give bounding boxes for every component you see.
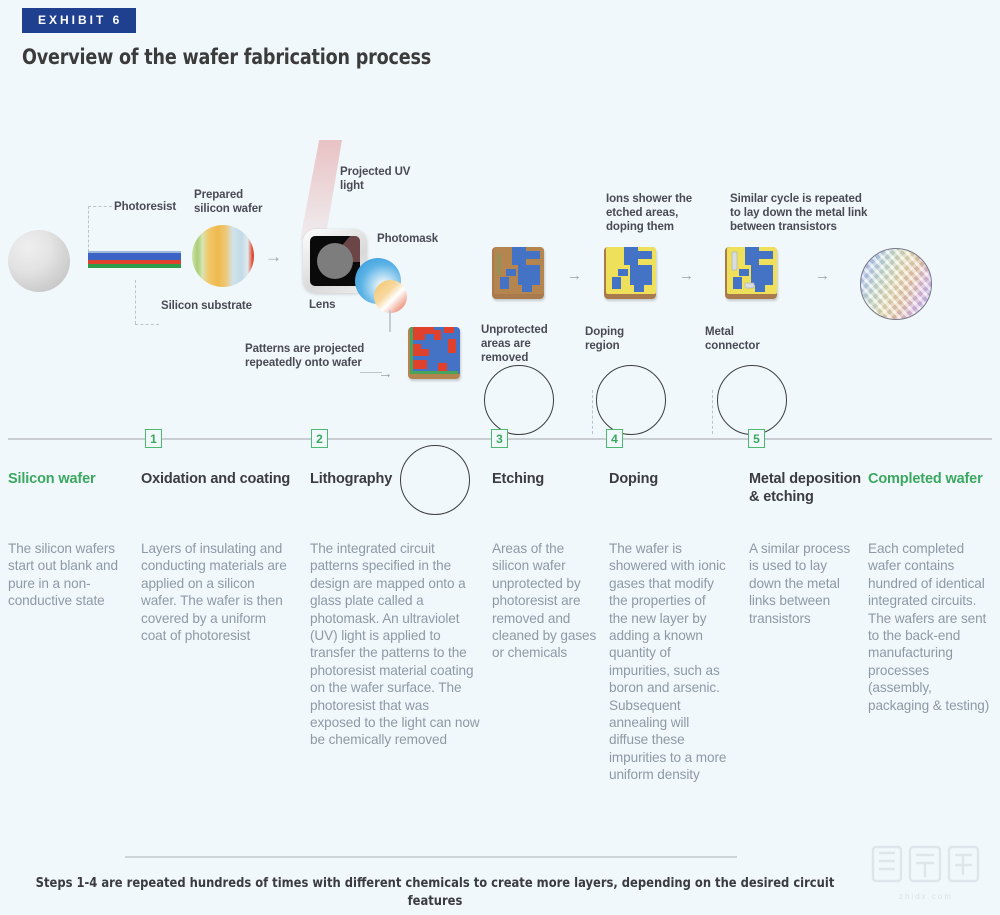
- metal-chip-icon: [725, 247, 777, 299]
- label-projected-uv-light: Projected UV light: [340, 165, 410, 193]
- label-photomask: Photomask: [377, 232, 438, 246]
- exposed-chip-icon: [408, 327, 460, 379]
- step-column-oxidation: Oxidation and coating Layers of insulati…: [141, 470, 296, 488]
- step-column-etching: Etching Areas of the silicon wafer unpro…: [492, 470, 602, 488]
- photoresist-leader-line: [88, 206, 89, 252]
- step-body: The silicon wafers start out blank and p…: [8, 540, 123, 610]
- arrow-icon-exposed: →: [378, 366, 393, 381]
- photoresist-leader-line-h: [88, 206, 112, 207]
- completed-wafer-icon: [860, 248, 932, 320]
- step-marker-5: 5: [748, 429, 765, 448]
- step-body: The integrated circuit patterns specifie…: [310, 540, 480, 749]
- step-title: Etching: [492, 470, 602, 488]
- label-photoresist: Photoresist: [114, 200, 176, 214]
- substrate-leader-line-h: [135, 324, 159, 325]
- step-title: Lithography: [310, 470, 482, 488]
- metal-leader-line: [712, 390, 713, 434]
- step-marker-3: 3: [491, 429, 508, 448]
- doping-chip-outline: [596, 365, 666, 435]
- connector-exposed: [360, 372, 382, 373]
- watermark-logo: zhidx.com: [870, 839, 982, 901]
- step-marker-1: 1: [145, 429, 162, 448]
- watermark-caption: zhidx.com: [870, 892, 982, 901]
- label-doping-region: Doping region: [585, 325, 624, 353]
- step-column-lithography: Lithography The integrated circuit patte…: [310, 470, 482, 488]
- arrow-icon-1: →: [265, 248, 282, 265]
- page-title: Overview of the wafer fabrication proces…: [22, 45, 431, 69]
- step-title: Oxidation and coating: [141, 470, 296, 488]
- process-diagram: Photoresist Silicon substrate Prepared s…: [0, 120, 1000, 410]
- step-column-metal-deposition: Metal deposition & etching A similar pro…: [749, 470, 864, 506]
- step-column-doping: Doping The wafer is showered with ionic …: [609, 470, 731, 488]
- step-column-silicon-wafer: Silicon wafer The silicon wafers start o…: [8, 470, 128, 488]
- step-body: Each completed wafer contains hundred of…: [868, 540, 990, 714]
- watermark-glyph-icon: [870, 839, 982, 889]
- step-title: Metal deposition & etching: [749, 470, 864, 506]
- label-lens: Lens: [309, 298, 335, 312]
- step-title: Completed wafer: [868, 470, 993, 488]
- substrate-leader-line: [135, 280, 136, 324]
- etched-chip-outline: [484, 365, 554, 435]
- exhibit-page: EXHIBIT 6 Overview of the wafer fabricat…: [0, 0, 1000, 915]
- label-similar-cycle: Similar cycle is repeated to lay down th…: [730, 192, 867, 234]
- uv-beam-icon: [282, 140, 342, 240]
- blank-silicon-wafer-icon: [8, 230, 70, 292]
- metal-chip-outline: [717, 365, 787, 435]
- footer-note: Steps 1-4 are repeated hundreds of times…: [22, 874, 849, 910]
- doping-chip-icon: [604, 247, 656, 299]
- step-body: Layers of insulating and conducting mate…: [141, 540, 293, 644]
- step-marker-2: 2: [311, 429, 328, 448]
- step-body: A similar process is used to lay down th…: [749, 540, 861, 627]
- label-silicon-substrate: Silicon substrate: [161, 299, 252, 313]
- footer-divider: [125, 856, 737, 858]
- label-patterns-projected: Patterns are projected repeatedly onto w…: [245, 342, 364, 370]
- label-unprotected-areas: Unprotected areas are removed: [481, 323, 548, 365]
- label-ions-shower: Ions shower the etched areas, doping the…: [606, 192, 692, 234]
- step-column-completed-wafer: Completed wafer Each completed wafer con…: [868, 470, 993, 488]
- label-metal-connector: Metal connector: [705, 325, 760, 353]
- lens-stem-icon: [389, 310, 391, 332]
- step-body: The wafer is showered with ionic gases t…: [609, 540, 727, 784]
- etched-chip-icon: [492, 247, 544, 299]
- lens-orange-icon: [374, 280, 407, 313]
- arrow-icon-4: →: [815, 268, 830, 283]
- step-marker-4: 4: [606, 429, 623, 448]
- step-body: Areas of the silicon wafer unprotected b…: [492, 540, 600, 662]
- step-title: Doping: [609, 470, 731, 488]
- doping-leader-line: [592, 390, 593, 434]
- exhibit-badge: EXHIBIT 6: [22, 8, 136, 33]
- step-title: Silicon wafer: [8, 470, 128, 488]
- label-prepared-silicon-wafer: Prepared silicon wafer: [194, 188, 262, 216]
- prepared-silicon-wafer-icon: [192, 225, 254, 287]
- arrow-icon-2: →: [567, 268, 582, 283]
- arrow-icon-3: →: [679, 268, 694, 283]
